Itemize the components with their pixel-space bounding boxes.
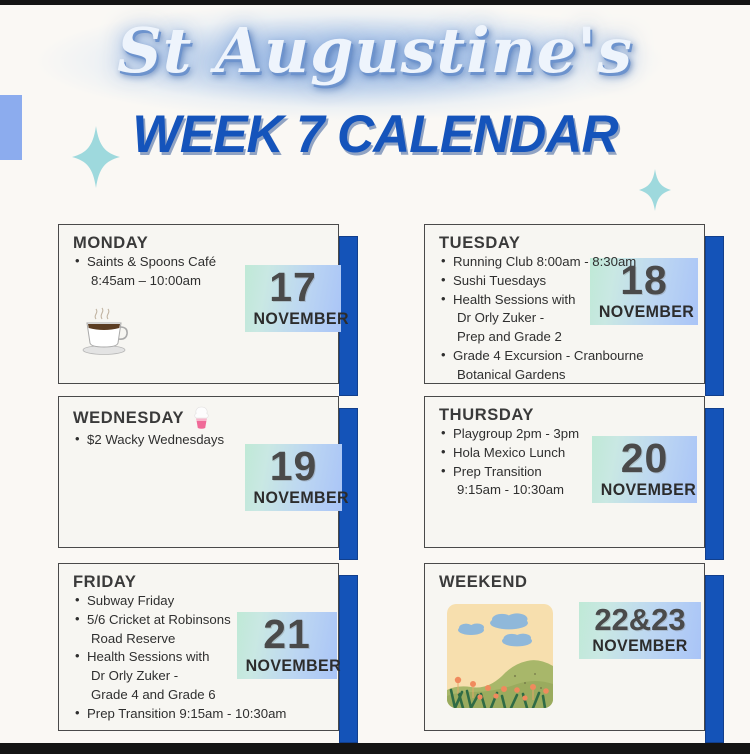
day-card[interactable]: FRIDAY Subway Friday 5/6 Cricket at Robi… (58, 563, 339, 731)
page-title-main: WEEK 7 CALENDAR (11, 104, 739, 165)
card-accent-bar (705, 236, 724, 396)
event-list: $2 Wacky Wednesdays (73, 431, 328, 450)
calendar-poster: St Augustine's WEEK 7 CALENDAR MONDAY Sa… (0, 0, 750, 754)
top-edge-strip (0, 0, 750, 5)
list-item: Botanical Gardens (439, 366, 694, 385)
day-title: FRIDAY (73, 573, 328, 591)
day-title-label: WEDNESDAY (73, 409, 184, 427)
sparkle-icon (639, 169, 671, 211)
event-list: Playgroup 2pm - 3pm Hola Mexico Lunch Pr… (439, 425, 694, 500)
day-title-label: TUESDAY (439, 234, 521, 252)
day-title-label: MONDAY (73, 234, 148, 252)
card-accent-bar (705, 575, 724, 743)
list-item: Running Club 8:00am - 8:30am (439, 253, 694, 272)
day-card[interactable]: TUESDAY Running Club 8:00am - 8:30am Sus… (424, 224, 705, 384)
cupcake-icon (191, 406, 212, 430)
event-list: Running Club 8:00am - 8:30am Sushi Tuesd… (439, 253, 694, 384)
day-title-label: WEEKEND (439, 573, 528, 591)
day-card[interactable]: WEDNESDAY $2 Wacky Wednesdays (58, 396, 339, 548)
day-cell-thursday: THURSDAY Playgroup 2pm - 3pm Hola Mexico… (424, 396, 746, 563)
list-item: Health Sessions with (439, 291, 694, 310)
date-badge: 19 NOVEMBER (245, 444, 342, 511)
list-item: Playgroup 2pm - 3pm (439, 425, 694, 444)
list-item: Health Sessions with (73, 648, 328, 667)
list-item: 8:45am – 10:00am (73, 272, 328, 291)
event-list: Saints & Spoons Café 8:45am – 10:00am (73, 253, 328, 290)
list-item: 9:15am - 10:30am (439, 481, 694, 500)
day-title-label: FRIDAY (73, 573, 137, 591)
list-item: Grade 4 Excursion - Cranbourne (439, 347, 694, 366)
day-title: MONDAY (73, 234, 328, 252)
calendar-row: WEDNESDAY $2 Wacky Wednesdays (0, 396, 750, 563)
landscape-illustration (447, 604, 553, 708)
list-item: Subway Friday (73, 592, 328, 611)
calendar-row: FRIDAY Subway Friday 5/6 Cricket at Robi… (0, 563, 750, 743)
day-title-label: THURSDAY (439, 406, 534, 424)
day-title: THURSDAY (439, 406, 694, 424)
day-cell-weekend: WEEKEND (424, 563, 746, 743)
list-item: Dr Orly Zuker - (439, 309, 694, 328)
list-item: Prep and Grade 2 (439, 328, 694, 347)
date-badge: 22&23 NOVEMBER (579, 602, 701, 659)
day-cell-tuesday: TUESDAY Running Club 8:00am - 8:30am Sus… (424, 224, 746, 396)
date-number: 22&23 (585, 604, 695, 636)
card-accent-bar (705, 408, 724, 560)
list-item: Grade 4 and Grade 6 (73, 686, 328, 705)
day-cell-wednesday: WEDNESDAY $2 Wacky Wednesdays (58, 396, 380, 563)
list-item: Sushi Tuesdays (439, 272, 694, 291)
calendar-grid: MONDAY Saints & Spoons Café 8:45am – 10:… (0, 224, 750, 743)
date-month: NOVEMBER (254, 488, 334, 507)
list-item: $2 Wacky Wednesdays (73, 431, 328, 450)
list-item: Prep Transition 9:15am - 10:30am (73, 705, 328, 724)
list-item: 5/6 Cricket at Robinsons (73, 611, 328, 630)
date-month: NOVEMBER (254, 309, 333, 328)
day-card[interactable]: THURSDAY Playgroup 2pm - 3pm Hola Mexico… (424, 396, 705, 548)
list-item: Road Reserve (73, 630, 328, 649)
day-title: TUESDAY (439, 234, 694, 252)
day-cell-monday: MONDAY Saints & Spoons Café 8:45am – 10:… (58, 224, 380, 396)
day-cell-friday: FRIDAY Subway Friday 5/6 Cricket at Robi… (58, 563, 380, 743)
list-item: Dr Orly Zuker - (73, 667, 328, 686)
coffee-cup-icon (77, 307, 131, 355)
page-title-script: St Augustine's (0, 14, 750, 87)
calendar-row: MONDAY Saints & Spoons Café 8:45am – 10:… (0, 224, 750, 396)
card-accent-bar (339, 575, 358, 743)
list-item: Prep Transition (439, 463, 694, 482)
event-list: Subway Friday 5/6 Cricket at Robinsons R… (73, 592, 328, 723)
day-title: WEEKEND (439, 573, 694, 591)
list-item: Saints & Spoons Café (73, 253, 328, 272)
bottom-edge-strip (0, 743, 750, 754)
day-card[interactable]: MONDAY Saints & Spoons Café 8:45am – 10:… (58, 224, 339, 384)
date-month: NOVEMBER (588, 636, 691, 655)
list-item: Hola Mexico Lunch (439, 444, 694, 463)
date-number: 19 (251, 446, 336, 488)
day-card[interactable]: WEEKEND (424, 563, 705, 731)
day-title: WEDNESDAY (73, 406, 328, 430)
